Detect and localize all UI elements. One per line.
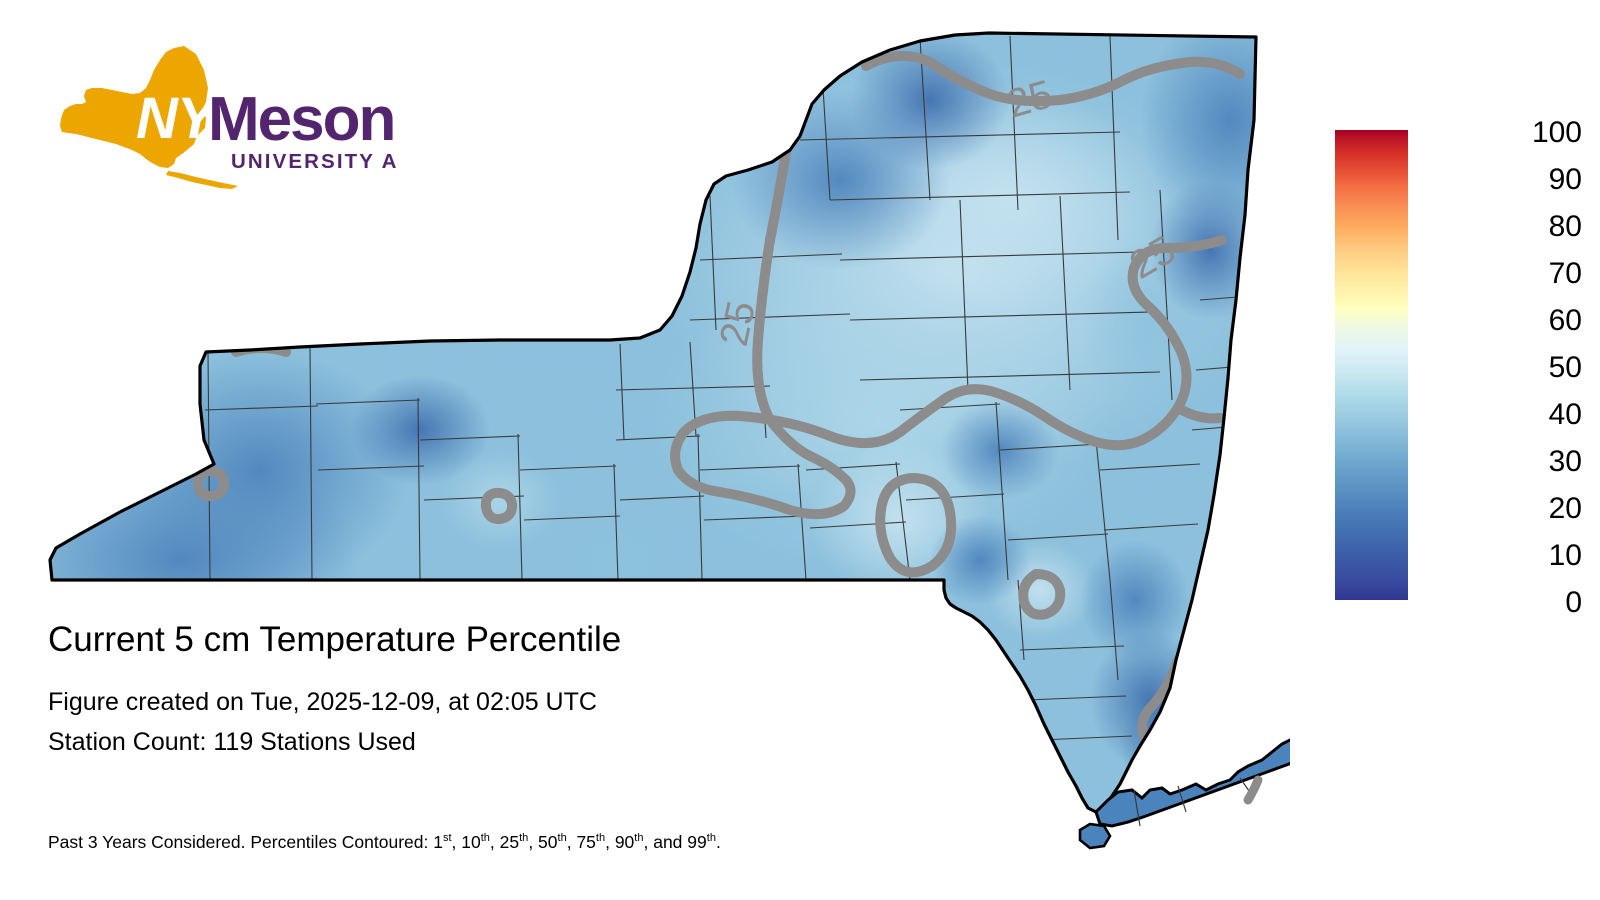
footnote-suffix: th xyxy=(634,832,643,844)
colorbar-tick: 40 xyxy=(1549,400,1582,430)
footnote-suffix: th xyxy=(596,832,605,844)
footnote-and: and xyxy=(653,832,682,852)
colorbar-tick: 60 xyxy=(1549,306,1582,336)
footnote-suffix: th xyxy=(481,832,490,844)
station-count-text: Station Count: 119 Stations Used xyxy=(48,722,1048,762)
footnote-value: 99 xyxy=(687,832,706,852)
colorbar-tick: 90 xyxy=(1549,165,1582,195)
caption-block: Current 5 cm Temperature Percentile Figu… xyxy=(48,618,1048,762)
footnote-value: 75 xyxy=(576,832,595,852)
footnote-value: 90 xyxy=(615,832,634,852)
footnote-suffix: th xyxy=(519,832,528,844)
footnote-suffix: th xyxy=(558,832,567,844)
new-york-percentile-map: 25 25 25 xyxy=(0,0,1290,900)
footnote-value: 50 xyxy=(538,832,557,852)
colorbar-tick: 10 xyxy=(1549,541,1582,571)
footnote-prefix: Past 3 Years Considered. Percentiles Con… xyxy=(48,832,433,852)
footnote-value: 10 xyxy=(461,832,480,852)
colorbar-gradient xyxy=(1335,130,1408,600)
figure-created-timestamp: Figure created on Tue, 2025-12-09, at 02… xyxy=(48,682,1048,722)
colorbar-tick: 100 xyxy=(1532,118,1582,148)
colorbar-tick: 50 xyxy=(1549,353,1582,383)
colorbar-tick: 0 xyxy=(1565,588,1582,618)
contour-label-25: 25 xyxy=(712,297,764,350)
figure-footnote: Past 3 Years Considered. Percentiles Con… xyxy=(48,827,721,853)
map-panel: 25 25 25 xyxy=(0,0,1290,900)
footnote-suffix: st xyxy=(443,832,452,844)
figure-title: Current 5 cm Temperature Percentile xyxy=(48,618,1048,662)
colorbar-tick: 80 xyxy=(1549,212,1582,242)
colorbar-panel: 100 90 80 70 60 50 40 30 20 10 0 xyxy=(1320,110,1590,630)
footnote-value: 1 xyxy=(433,832,443,852)
colorbar-tick: 70 xyxy=(1549,259,1582,289)
footnote-suffix: th xyxy=(707,832,716,844)
staten-island-fill xyxy=(1080,824,1110,848)
footnote-end: . xyxy=(716,832,721,852)
colorbar-tick-labels: 100 90 80 70 60 50 40 30 20 10 0 xyxy=(1415,110,1590,620)
colorbar-tick: 20 xyxy=(1549,494,1582,524)
footnote-value: 25 xyxy=(500,832,519,852)
colorbar-tick: 30 xyxy=(1549,447,1582,477)
long-island-contour xyxy=(1248,780,1258,800)
